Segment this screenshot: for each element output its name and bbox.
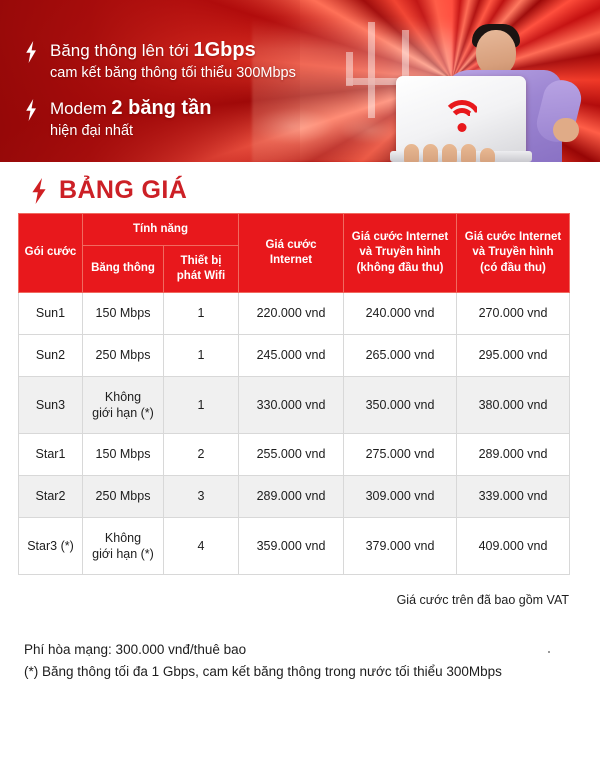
table-row: Sun1150 Mbps1220.000 vnd240.000 vnd270.0… [19, 293, 570, 335]
cell-wifi-devices: 1 [164, 377, 239, 434]
cell-package: Star2 [19, 476, 83, 518]
banner-bullet-1: Băng thông lên tới 1Gbps cam kết băng th… [24, 38, 354, 82]
banner-bullet-1-line2: cam kết băng thông tối thiểu 300Mbps [50, 64, 296, 83]
banner-person-with-laptop [390, 22, 580, 162]
cell-internet-price: 359.000 vnd [239, 518, 344, 575]
cell-internet-price: 330.000 vnd [239, 377, 344, 434]
person-hand [553, 118, 579, 142]
th-internet-price: Giá cước Internet [239, 214, 344, 293]
cell-bandwidth: Khônggiới hạn (*) [83, 518, 164, 575]
price-table-wrapper: Gói cước Tính năng Giá cước Internet Giá… [18, 213, 569, 575]
lightning-bolt-icon [24, 41, 38, 63]
cell-bandwidth: 150 Mbps [83, 434, 164, 476]
cell-tv-with-box: 339.000 vnd [457, 476, 570, 518]
cell-wifi-devices: 3 [164, 476, 239, 518]
th-wifi-device: Thiết bị phát Wifi [164, 246, 239, 293]
table-row: Star2250 Mbps3289.000 vnd309.000 vnd339.… [19, 476, 570, 518]
laptop [390, 76, 532, 162]
cell-tv-with-box: 289.000 vnd [457, 434, 570, 476]
banner-bullet-1-strong: 1Gbps [193, 39, 255, 61]
th-tv-with-box-line1: Giá cước Internet [460, 230, 566, 245]
lightning-bolt-icon [24, 99, 38, 121]
cell-bandwidth: 250 Mbps [83, 335, 164, 377]
person-fingers [404, 142, 500, 162]
banner-bullet-1-prefix: Băng thông lên tới [50, 41, 193, 60]
table-row: Star1150 Mbps2255.000 vnd275.000 vnd289.… [19, 434, 570, 476]
th-wifi-device-line1: Thiết bị [167, 254, 235, 269]
th-bandwidth: Băng thông [83, 246, 164, 293]
image-speck [548, 651, 550, 653]
vat-note: Giá cước trên đã bao gồm VAT [0, 593, 569, 607]
table-header-row-1: Gói cước Tính năng Giá cước Internet Giá… [19, 214, 570, 246]
table-row: Sun3Khônggiới hạn (*)1330.000 vnd350.000… [19, 377, 570, 434]
cell-bandwidth-line2: giới hạn (*) [86, 405, 160, 421]
banner-bullet-2: Modem 2 băng tần hiện đại nhất [24, 96, 354, 140]
banner-bullet-2-strong: 2 băng tần [111, 97, 211, 119]
cell-internet-price: 220.000 vnd [239, 293, 344, 335]
cell-package: Sun2 [19, 335, 83, 377]
price-table-body: Sun1150 Mbps1220.000 vnd240.000 vnd270.0… [19, 293, 570, 575]
cell-bandwidth-line1: Không [86, 530, 160, 546]
table-row: Star3 (*)Khônggiới hạn (*)4359.000 vnd37… [19, 518, 570, 575]
cell-tv-no-box: 265.000 vnd [344, 335, 457, 377]
cell-tv-no-box: 379.000 vnd [344, 518, 457, 575]
cell-tv-with-box: 270.000 vnd [457, 293, 570, 335]
footer-note-setup-fee: Phí hòa mạng: 300.000 vnđ/thuê bao [24, 639, 600, 661]
footer-note-bandwidth: (*) Băng thông tối đa 1 Gbps, cam kết bă… [24, 661, 600, 683]
cell-tv-with-box: 380.000 vnd [457, 377, 570, 434]
price-table-head: Gói cước Tính năng Giá cước Internet Giá… [19, 214, 570, 293]
cell-internet-price: 255.000 vnd [239, 434, 344, 476]
th-internet-price-line2: Internet [242, 253, 340, 268]
wifi-icon [440, 100, 484, 132]
cell-wifi-devices: 2 [164, 434, 239, 476]
th-feature-group: Tính năng [83, 214, 239, 246]
price-table: Gói cước Tính năng Giá cước Internet Giá… [18, 213, 570, 575]
cell-bandwidth: 250 Mbps [83, 476, 164, 518]
cell-bandwidth: Khônggiới hạn (*) [83, 377, 164, 434]
th-tv-no-box-line1: Giá cước Internet [347, 230, 453, 245]
cell-tv-no-box: 275.000 vnd [344, 434, 457, 476]
cell-bandwidth: 150 Mbps [83, 293, 164, 335]
cell-tv-no-box: 350.000 vnd [344, 377, 457, 434]
promo-banner: Băng thông lên tới 1Gbps cam kết băng th… [0, 0, 600, 162]
banner-bullet-2-prefix: Modem [50, 99, 111, 118]
footer-notes: Phí hòa mạng: 300.000 vnđ/thuê bao (*) B… [24, 639, 600, 683]
banner-bullet-1-line1: Băng thông lên tới 1Gbps [50, 38, 296, 64]
th-tv-with-box: Giá cước Internet và Truyền hình (có đầu… [457, 214, 570, 293]
cell-wifi-devices: 1 [164, 293, 239, 335]
banner-bullet-list: Băng thông lên tới 1Gbps cam kết băng th… [24, 38, 354, 154]
banner-bullet-2-text: Modem 2 băng tần hiện đại nhất [50, 96, 211, 140]
banner-bullet-2-line2: hiện đại nhất [50, 122, 211, 141]
th-internet-price-line1: Giá cước [242, 238, 340, 253]
cell-tv-no-box: 240.000 vnd [344, 293, 457, 335]
banner-bullet-2-line1: Modem 2 băng tần [50, 96, 211, 122]
lightning-bolt-icon [30, 178, 48, 204]
th-tv-no-box: Giá cước Internet và Truyền hình (không … [344, 214, 457, 293]
cell-package: Sun3 [19, 377, 83, 434]
cell-wifi-devices: 1 [164, 335, 239, 377]
th-tv-with-box-line2: và Truyền hình [460, 245, 566, 260]
cell-tv-with-box: 295.000 vnd [457, 335, 570, 377]
banner-bullet-1-text: Băng thông lên tới 1Gbps cam kết băng th… [50, 38, 296, 82]
cell-tv-with-box: 409.000 vnd [457, 518, 570, 575]
section-title: BẢNG GIÁ [30, 176, 600, 205]
cell-wifi-devices: 4 [164, 518, 239, 575]
cell-package: Star3 (*) [19, 518, 83, 575]
cell-package: Sun1 [19, 293, 83, 335]
th-tv-with-box-line3: (có đầu thu) [460, 261, 566, 276]
page-title: BẢNG GIÁ [59, 176, 187, 205]
cell-internet-price: 245.000 vnd [239, 335, 344, 377]
cell-tv-no-box: 309.000 vnd [344, 476, 457, 518]
th-package: Gói cước [19, 214, 83, 293]
cell-internet-price: 289.000 vnd [239, 476, 344, 518]
th-tv-no-box-line2: và Truyền hình [347, 245, 453, 260]
cell-bandwidth-line2: giới hạn (*) [86, 546, 160, 562]
th-tv-no-box-line3: (không đầu thu) [347, 261, 453, 276]
table-row: Sun2250 Mbps1245.000 vnd265.000 vnd295.0… [19, 335, 570, 377]
cell-package: Star1 [19, 434, 83, 476]
th-wifi-device-line2: phát Wifi [167, 269, 235, 284]
cell-bandwidth-line1: Không [86, 389, 160, 405]
